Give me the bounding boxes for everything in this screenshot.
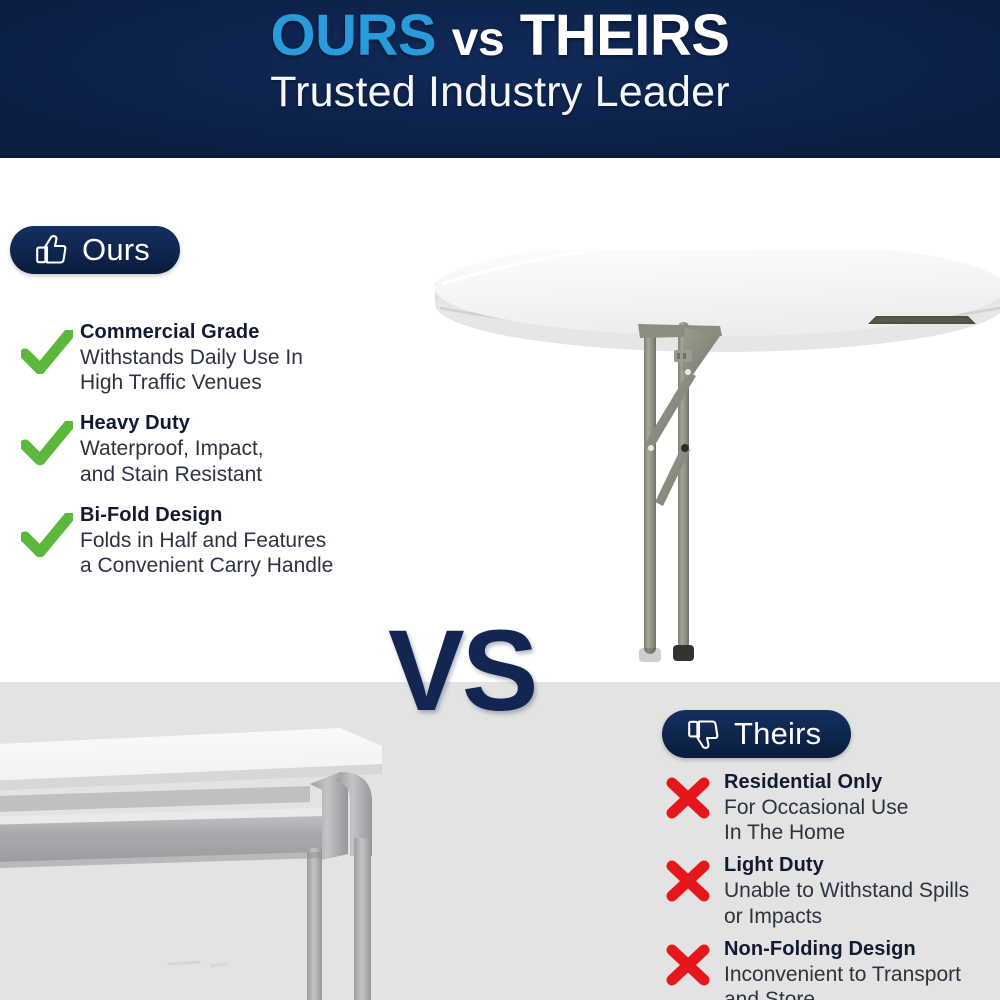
x-icon — [652, 768, 724, 822]
x-icon — [652, 851, 724, 905]
title-ours: OURS — [271, 3, 437, 68]
check-icon — [14, 501, 80, 561]
theirs-product-image — [0, 728, 430, 1000]
list-item-title: Commercial Grade — [80, 321, 259, 343]
list-item-title: Light Duty — [724, 854, 824, 876]
list-item-desc: Inconvenient to Transport and Store — [724, 962, 961, 1000]
list-item: Bi-Fold Design Folds in Half and Feature… — [14, 501, 414, 578]
list-item-desc: Waterproof, Impact, and Stain Resistant — [80, 436, 264, 486]
ours-badge-label: Ours — [82, 232, 150, 268]
ours-feature-list: Commercial Grade Withstands Daily Use In… — [14, 318, 414, 592]
list-item-title: Heavy Duty — [80, 412, 190, 434]
list-item-desc: Withstands Daily Use In High Traffic Ven… — [80, 345, 303, 395]
vs-divider-label: VS — [388, 614, 535, 729]
theirs-feature-list: Residential Only For Occasional Use In T… — [652, 768, 1000, 1000]
list-item: Commercial Grade Withstands Daily Use In… — [14, 318, 414, 395]
list-item-text: Light Duty Unable to Withstand Spills or… — [724, 851, 969, 928]
title-theirs: THEIRS — [520, 3, 730, 68]
page-title: OURS vs THEIRS — [0, 6, 1000, 67]
page-subtitle: Trusted Industry Leader — [0, 68, 1000, 117]
theirs-badge: Theirs — [662, 710, 851, 758]
list-item-text: Non-Folding Design Inconvenient to Trans… — [724, 935, 961, 1000]
list-item: Light Duty Unable to Withstand Spills or… — [652, 851, 1000, 928]
list-item-text: Commercial Grade Withstands Daily Use In… — [80, 318, 303, 395]
ours-badge: Ours — [10, 226, 180, 274]
list-item-title: Non-Folding Design — [724, 938, 916, 960]
list-item-title: Bi-Fold Design — [80, 504, 223, 526]
list-item-desc: For Occasional Use In The Home — [724, 795, 908, 845]
list-item-desc: Folds in Half and Features a Convenient … — [80, 528, 333, 578]
check-icon — [14, 409, 80, 469]
list-item-text: Bi-Fold Design Folds in Half and Feature… — [80, 501, 333, 578]
thumbs-up-icon — [34, 234, 68, 266]
thumbs-down-icon — [686, 718, 720, 750]
title-vs: vs — [452, 13, 504, 66]
check-icon — [14, 318, 80, 378]
list-item-desc: Unable to Withstand Spills or Impacts — [724, 878, 969, 928]
list-item-title: Residential Only — [724, 771, 882, 793]
list-item: Non-Folding Design Inconvenient to Trans… — [652, 935, 1000, 1000]
list-item-text: Residential Only For Occasional Use In T… — [724, 768, 908, 845]
header-banner: OURS vs THEIRS Trusted Industry Leader — [0, 0, 1000, 158]
list-item: Residential Only For Occasional Use In T… — [652, 768, 1000, 845]
theirs-badge-label: Theirs — [734, 716, 821, 752]
x-icon — [652, 935, 724, 989]
list-item: Heavy Duty Waterproof, Impact, and Stain… — [14, 409, 414, 486]
comparison-infographic: OURS vs THEIRS Trusted Industry Leader O… — [0, 0, 1000, 1000]
header-divider — [0, 155, 1000, 158]
list-item-text: Heavy Duty Waterproof, Impact, and Stain… — [80, 409, 264, 486]
